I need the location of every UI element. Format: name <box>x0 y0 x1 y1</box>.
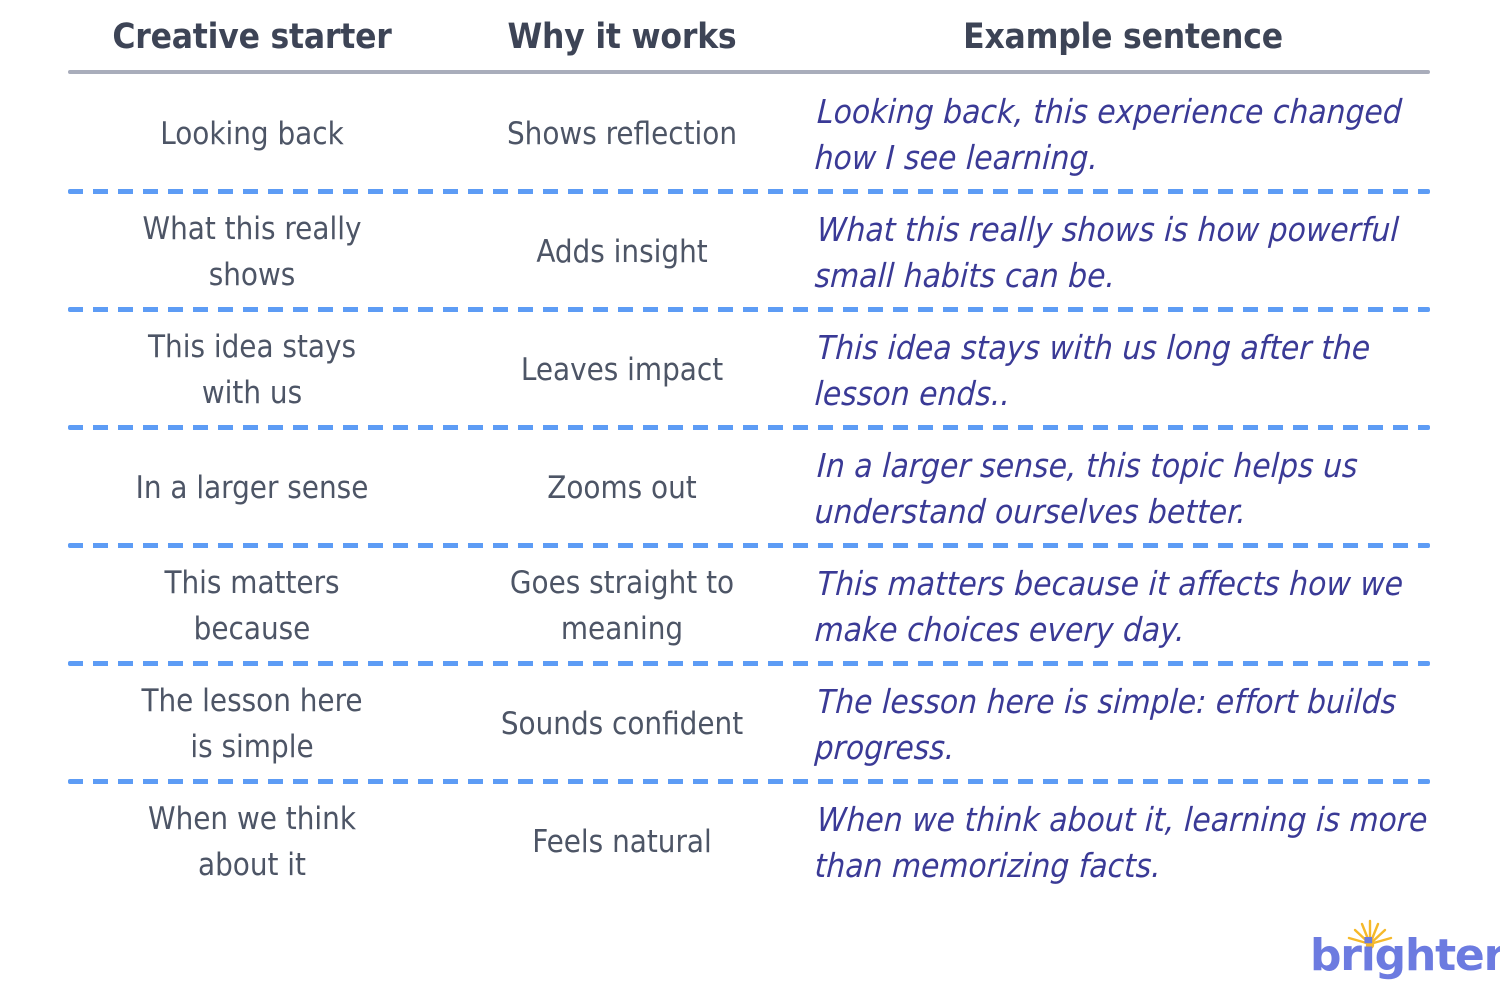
column-header-example-sentence: Example sentence <box>808 18 1434 57</box>
table-row: What this really shows Adds insight What… <box>68 194 1430 312</box>
brighterly-wordmark: brighterly <box>1310 934 1500 978</box>
table-row: The lesson here is simple Sounds confide… <box>68 666 1430 784</box>
table-row: When we think about it Feels natural Whe… <box>68 784 1430 902</box>
cell-creative-starter: When we think about it <box>68 797 436 889</box>
cell-why-it-works: Zooms out <box>436 466 808 512</box>
table-row: Looking back Shows reflection Looking ba… <box>68 76 1430 194</box>
cell-creative-starter: This idea stays with us <box>68 325 436 417</box>
cell-creative-starter: What this really shows <box>68 207 436 299</box>
cell-creative-starter: In a larger sense <box>68 466 436 512</box>
cell-creative-starter: The lesson here is simple <box>68 679 436 771</box>
table-row: This idea stays with us Leaves impact Th… <box>68 312 1430 430</box>
column-header-creative-starter: Creative starter <box>68 18 436 57</box>
table-row: This matters because Goes straight to me… <box>68 548 1430 666</box>
cell-example-sentence: This idea stays with us long after the l… <box>806 325 1433 416</box>
cell-why-it-works: Feels natural <box>436 820 808 866</box>
cell-creative-starter: Looking back <box>68 112 436 158</box>
table-body: Looking back Shows reflection Looking ba… <box>68 76 1430 902</box>
header-row: Creative starter Why it works Example se… <box>68 8 1430 66</box>
cell-why-it-works: Leaves impact <box>436 348 808 394</box>
cell-why-it-works: Shows reflection <box>436 112 808 158</box>
table-canvas: Creative starter Why it works Example se… <box>0 0 1500 1000</box>
cell-example-sentence: What this really shows is how powerful s… <box>806 207 1433 298</box>
cell-why-it-works: Adds insight <box>436 230 808 276</box>
cell-creative-starter: This matters because <box>68 561 436 653</box>
header-divider-rule <box>68 70 1430 74</box>
table-header: Creative starter Why it works Example se… <box>68 8 1430 66</box>
cell-example-sentence: The lesson here is simple: effort builds… <box>806 679 1433 770</box>
brighterly-logo: brighterly <box>1296 920 1486 990</box>
cell-why-it-works: Goes straight to meaning <box>436 561 808 653</box>
column-header-why-it-works: Why it works <box>436 18 808 57</box>
cell-why-it-works: Sounds confident <box>436 702 808 748</box>
table-row: In a larger sense Zooms out In a larger … <box>68 430 1430 548</box>
cell-example-sentence: In a larger sense, this topic helps us u… <box>806 443 1433 534</box>
cell-example-sentence: When we think about it, learning is more… <box>806 797 1433 888</box>
cell-example-sentence: This matters because it affects how we m… <box>806 561 1433 652</box>
cell-example-sentence: Looking back, this experience changed ho… <box>806 89 1433 180</box>
